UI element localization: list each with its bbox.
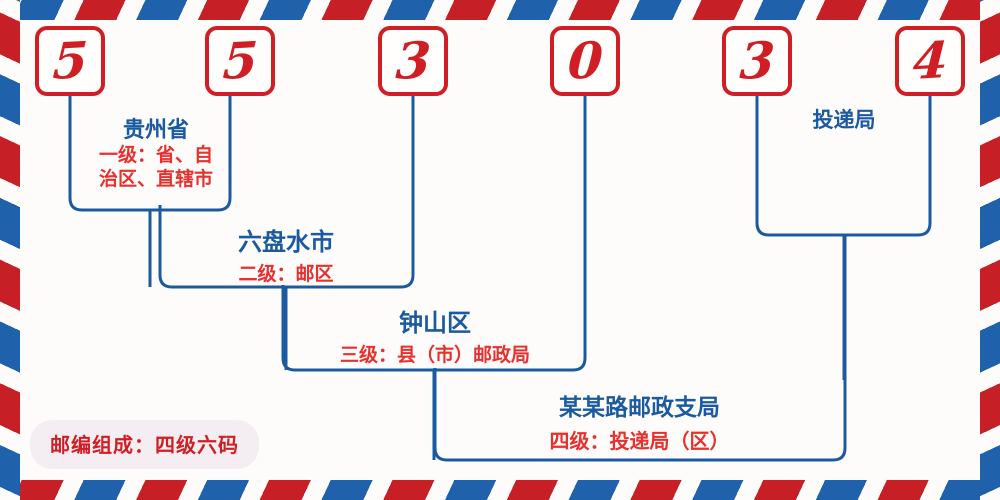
delivery-office-label-group: 投递局	[757, 104, 931, 134]
stripe-pattern-right	[980, 0, 1000, 500]
level-4-title: 某某路邮政支局	[452, 388, 827, 422]
digit-glyph-2: 5	[222, 35, 259, 87]
level-1-title: 贵州省	[76, 112, 236, 144]
level-4-subtitle: 四级：投递局（区）	[452, 425, 827, 454]
digit-glyph-1: 5	[52, 35, 89, 87]
digit-box-1[interactable]: 5	[35, 26, 105, 96]
digit-glyph-3: 3	[395, 35, 432, 87]
digit-box-4[interactable]: 0	[550, 26, 620, 96]
level-1-subtitle-line1: 一级：省、自	[76, 144, 236, 168]
envelope-canvas: 5 5 3 0 3 4 贵州省 一级：省、自 治区、直辖市 六盘水市 二级：邮区…	[0, 0, 1000, 500]
level-3-subtitle: 三级：县（市）邮政局	[290, 340, 580, 367]
airmail-border-top	[0, 0, 1000, 20]
postcode-composition-badge: 邮编组成：四级六码	[30, 420, 259, 469]
stripe-pattern-bottom	[0, 480, 1000, 500]
airmail-border-left	[0, 0, 20, 500]
digit-glyph-6: 4	[912, 35, 949, 87]
level-1-subtitle-line2: 治区、直辖市	[76, 168, 236, 192]
level-2-title: 六盘水市	[186, 222, 386, 257]
digit-box-3[interactable]: 3	[378, 26, 448, 96]
level-1-label-group: 贵州省 一级：省、自 治区、直辖市	[76, 112, 236, 192]
level-2-subtitle: 二级：邮区	[186, 259, 386, 286]
level-2-label-group: 六盘水市 二级：邮区	[186, 222, 386, 286]
digit-box-2[interactable]: 5	[205, 26, 275, 96]
digit-glyph-5: 3	[739, 35, 776, 87]
airmail-border-bottom	[0, 480, 1000, 500]
stripe-pattern-top	[0, 0, 1000, 20]
digit-box-6[interactable]: 4	[895, 26, 965, 96]
level-3-title: 钟山区	[290, 303, 580, 338]
digit-glyph-4: 0	[567, 35, 604, 87]
stripe-pattern-left	[0, 0, 20, 500]
airmail-border-right	[980, 0, 1000, 500]
level-4-label-group: 某某路邮政支局 四级：投递局（区）	[452, 388, 827, 454]
digit-box-5[interactable]: 3	[722, 26, 792, 96]
delivery-office-title: 投递局	[757, 104, 931, 134]
level-3-label-group: 钟山区 三级：县（市）邮政局	[290, 303, 580, 367]
